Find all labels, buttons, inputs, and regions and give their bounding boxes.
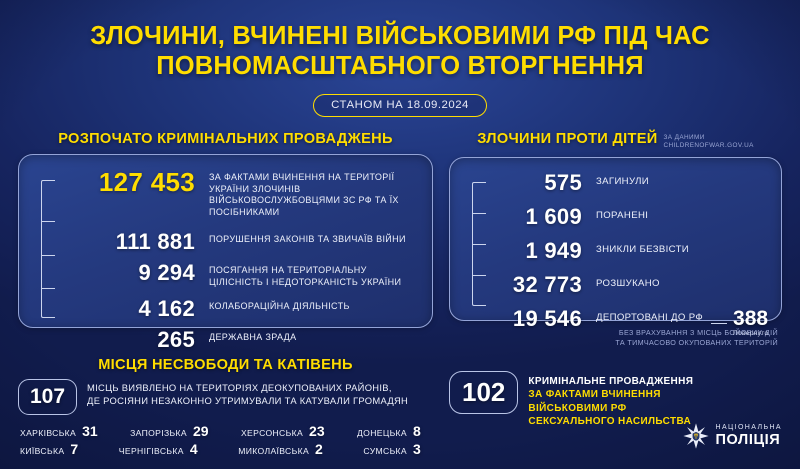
crimes-against-children-heading: Злочини проти дітей: [477, 131, 657, 147]
stat-label: Загинули: [582, 172, 649, 188]
detention-description-line1: місць виявлено на територіях деокуповани…: [87, 382, 408, 395]
region-name: Київська: [20, 446, 64, 456]
status-date-badge: СТАНОМ НА 18.09.2024: [313, 94, 487, 117]
stat-row: 111 881 Порушення законів та звичаїв вій…: [63, 231, 420, 253]
stat-value: 265: [63, 329, 195, 351]
stat-label: За фактами вчинення на території України…: [195, 169, 420, 218]
region-name: Миколаївська: [238, 446, 309, 456]
bracket-tick: [41, 255, 55, 256]
detention-count-badge: 107: [18, 379, 77, 415]
stat-row: 4 162 Колабораційна діяльність: [63, 298, 420, 320]
regions-table: Харківська 31 Запорізька 29 Херсонська 2…: [18, 424, 433, 456]
sexual-violence-line2: за фактами вчинення: [528, 388, 693, 402]
children-heading-row: Злочини проти дітей За даними childrenof…: [449, 131, 782, 150]
stat-value: 575: [490, 172, 582, 194]
detention-places-heading: Місця несвободи та катівень: [18, 357, 433, 373]
bracket-tick: [41, 221, 55, 222]
region-name: Чернігівська: [119, 446, 184, 456]
stat-value: 19 546: [490, 308, 582, 330]
sexual-violence-line1: Кримінальне провадження: [528, 375, 693, 389]
stat-value: 111 881: [63, 231, 195, 253]
region-value: 31: [82, 424, 100, 438]
region-item: Харківська 31: [20, 424, 100, 438]
region-value: 8: [413, 424, 431, 438]
detention-count-row: 107 місць виявлено на територіях деокупо…: [18, 379, 433, 415]
sexual-violence-line4: сексуального насильства: [528, 415, 693, 429]
sexual-violence-row: 102 Кримінальне провадження за фактами в…: [449, 371, 782, 429]
criminal-proceedings-rows: 127 453 За фактами вчинення на території…: [33, 169, 420, 351]
region-value: 2: [315, 442, 333, 456]
returned-caption: Повернуто: [733, 330, 768, 337]
region-item: Херсонська 23: [241, 424, 327, 438]
region-name: Запорізька: [130, 428, 187, 438]
date-badge-container: СТАНОМ НА 18.09.2024: [0, 94, 800, 117]
attribution-line1: За даними: [664, 134, 754, 142]
region-value: 7: [70, 442, 88, 456]
infographic-page: Злочини, вчинені військовими РФ під час …: [0, 0, 800, 469]
stat-value: 32 773: [490, 274, 582, 296]
region-item: Запорізька 29: [130, 424, 211, 438]
stat-value: 4 162: [63, 298, 195, 320]
attribution-line2: childrenofwar.gov.ua: [664, 142, 754, 150]
page-title: Злочини, вчинені військовими РФ під час …: [0, 0, 800, 81]
stat-row: 265 Державна зрада: [63, 329, 420, 351]
criminal-proceedings-heading: Розпочато кримінальних проваджень: [18, 131, 433, 147]
stat-label: Державна зрада: [195, 329, 296, 344]
stat-value: 127 453: [63, 169, 195, 195]
region-name: Донецька: [357, 428, 407, 438]
stat-row: 1 609 Поранені: [490, 206, 769, 228]
stat-row: 9 294 Посягання на територіальну цілісні…: [63, 262, 420, 288]
region-name: Харківська: [20, 428, 76, 438]
children-stat-rows: 575 Загинули 1 609 Поранені 1 949 Зникли…: [464, 172, 769, 337]
stat-row-deported: 19 546 Депортовані до РФ 388 Повернуто: [490, 308, 769, 337]
sexual-violence-count-badge: 102: [449, 371, 518, 414]
region-name: Херсонська: [241, 428, 303, 438]
stat-value: 9 294: [63, 262, 195, 284]
criminal-proceedings-section: Розпочато кримінальних проваджень 127 45…: [18, 131, 433, 347]
region-value: 3: [413, 442, 431, 456]
region-item: Київська 7: [20, 442, 88, 456]
top-sections: Розпочато кримінальних проваджень 127 45…: [0, 117, 800, 347]
returned-value: 388: [733, 308, 768, 329]
bracket-tick: [472, 244, 486, 245]
stat-row: 1 949 Зникли безвісти: [490, 240, 769, 262]
detention-places-section: Місця несвободи та катівень 107 місць ви…: [18, 357, 433, 460]
stat-row: 575 Загинули: [490, 172, 769, 194]
logo-line2: Поліція: [716, 433, 782, 448]
detention-description: місць виявлено на територіях деокуповани…: [87, 379, 408, 408]
regions-row: Київська 7 Чернігівська 4 Миколаївська 2…: [18, 442, 433, 456]
region-value: 23: [309, 424, 327, 438]
regions-row: Харківська 31 Запорізька 29 Херсонська 2…: [18, 424, 433, 438]
region-item: Чернігівська 4: [119, 442, 208, 456]
bracket-tick: [472, 275, 486, 276]
bottom-sections: Місця несвободи та катівень 107 місць ви…: [0, 348, 800, 460]
footnote-line2: та тимчасово окупованих територій: [449, 338, 778, 348]
detention-description-line2: де росіяни незаконно утримували та катув…: [87, 395, 408, 408]
stat-label: Поранені: [582, 206, 648, 222]
region-value: 4: [190, 442, 208, 456]
stat-label: Розшукано: [582, 274, 660, 290]
page-title-line2: повномасштабного вторгнення: [0, 52, 800, 82]
stat-label: Порушення законів та звичаїв війни: [195, 231, 406, 246]
sexual-violence-line3: військовими РФ: [528, 402, 693, 416]
stat-value: 1 949: [490, 240, 582, 262]
bracket-tick: [41, 288, 55, 289]
police-badge-icon: [683, 423, 709, 449]
bracket-connector: [41, 180, 55, 318]
crimes-against-children-card: 575 Загинули 1 609 Поранені 1 949 Зникли…: [449, 157, 782, 321]
crimes-against-children-section: Злочини проти дітей За даними childrenof…: [449, 131, 782, 347]
criminal-proceedings-card: 127 453 За фактами вчинення на території…: [18, 154, 433, 328]
stat-label: Зникли безвісти: [582, 240, 689, 256]
connector-dash-icon: [711, 323, 727, 324]
data-attribution: За даними childrenofwar.gov.ua: [664, 131, 754, 150]
stat-label: Колабораційна діяльність: [195, 298, 350, 313]
sexual-violence-description: Кримінальне провадження за фактами вчине…: [528, 371, 693, 429]
page-title-line1: Злочини, вчинені військовими РФ під час: [90, 22, 709, 50]
stat-value: 1 609: [490, 206, 582, 228]
stat-label: Депортовані до РФ: [582, 308, 703, 324]
logo-line1: Національна: [716, 424, 782, 431]
region-item: Сумська 3: [363, 442, 431, 456]
returned-group: 388 Повернуто: [711, 308, 768, 337]
stat-label: Посягання на територіальну цілісність і …: [195, 262, 420, 288]
region-item: Миколаївська 2: [238, 442, 333, 456]
region-name: Сумська: [363, 446, 407, 456]
police-logo-text: Національна Поліція: [716, 424, 782, 448]
stat-row: 127 453 За фактами вчинення на території…: [63, 169, 420, 218]
stat-row: 32 773 Розшукано: [490, 274, 769, 296]
bracket-tick: [472, 213, 486, 214]
national-police-logo: Національна Поліція: [683, 423, 782, 449]
region-item: Донецька 8: [357, 424, 431, 438]
region-value: 29: [193, 424, 211, 438]
